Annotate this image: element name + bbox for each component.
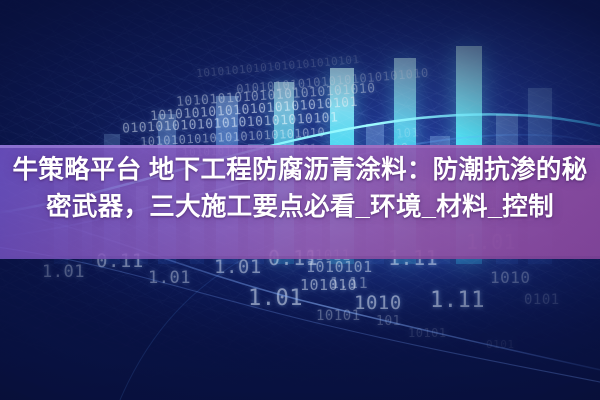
banner-image: 1010101010101010101010101010101010101010… bbox=[0, 0, 600, 400]
title-line-2: 密武器，三大施工要点必看_环境_材料_控制 bbox=[6, 189, 594, 226]
title-line-1: 牛策略平台 地下工程防腐沥青涂料：防潮抗渗的秘 bbox=[6, 152, 594, 189]
band-top-edge bbox=[0, 145, 600, 148]
band-bottom-edge bbox=[0, 256, 600, 259]
banner-title: 牛策略平台 地下工程防腐沥青涂料：防潮抗渗的秘 密武器，三大施工要点必看_环境_… bbox=[0, 152, 600, 226]
